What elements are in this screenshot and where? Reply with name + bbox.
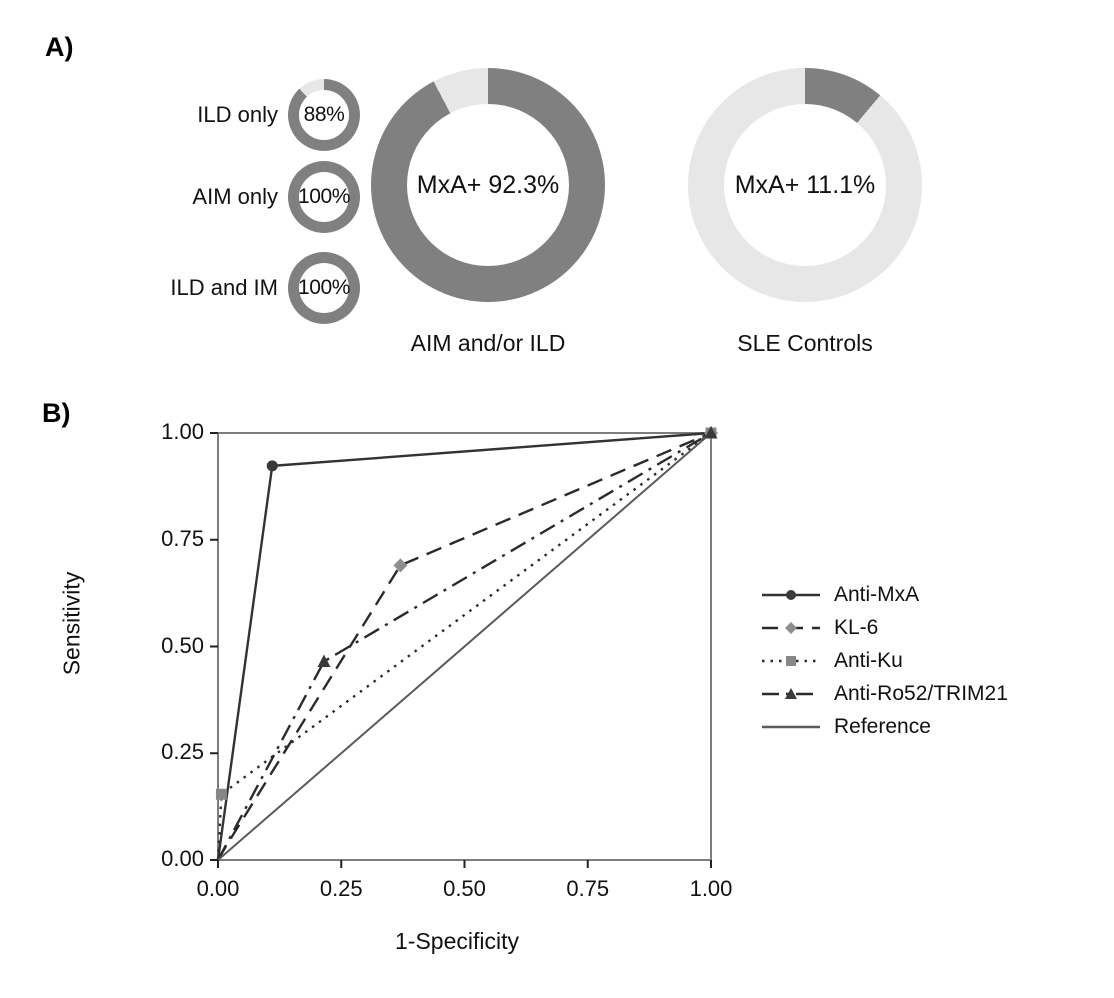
legend-label: Anti-Ro52/TRIM21: [834, 682, 1008, 706]
legend-key-icon: [760, 649, 822, 673]
y-axis-title: Sensitivity: [59, 544, 86, 704]
x-tick-label: 0.25: [296, 876, 386, 902]
chart-legend: Anti-MxAKL-6Anti-KuAnti-Ro52/TRIM21Refer…: [760, 578, 1008, 743]
legend-item-kl-6: KL-6: [760, 611, 1008, 644]
legend-item-anti-ro52-trim21: Anti-Ro52/TRIM21: [760, 677, 1008, 710]
legend-item-anti-ku: Anti-Ku: [760, 644, 1008, 677]
legend-label: Anti-MxA: [834, 583, 919, 607]
legend-item-reference: Reference: [760, 710, 1008, 743]
y-tick-label: 0.00: [114, 846, 204, 872]
x-tick-label: 0.00: [173, 876, 263, 902]
x-tick-label: 1.00: [666, 876, 756, 902]
legend-item-anti-mxa: Anti-MxA: [760, 578, 1008, 611]
x-tick-label: 0.75: [543, 876, 633, 902]
x-axis-title: 1-Specificity: [395, 928, 519, 955]
legend-label: KL-6: [834, 616, 878, 640]
legend-label: Reference: [834, 715, 931, 739]
legend-key-icon: [760, 682, 822, 706]
y-tick-label: 0.75: [114, 526, 204, 552]
legend-key-icon: [760, 583, 822, 607]
x-tick-label: 0.50: [420, 876, 510, 902]
roc-marker-diamond: [393, 558, 407, 572]
legend-key-icon: [760, 616, 822, 640]
roc-line-reference: [218, 433, 711, 860]
roc-marker-circle: [267, 460, 278, 471]
y-tick-label: 0.50: [114, 633, 204, 659]
legend-label: Anti-Ku: [834, 649, 903, 673]
legend-key-icon: [760, 715, 822, 739]
roc-marker-square: [216, 789, 227, 800]
roc-marker-triangle: [317, 654, 330, 667]
y-tick-label: 1.00: [114, 419, 204, 445]
y-tick-label: 0.25: [114, 739, 204, 765]
